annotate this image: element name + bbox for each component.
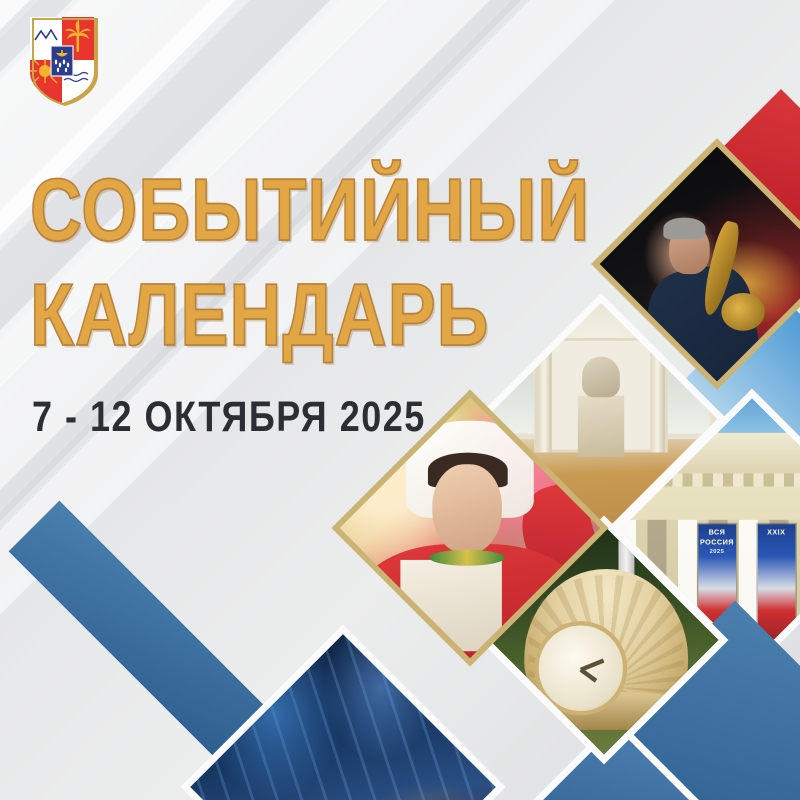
date-range-label: 7 - 12 ОКТЯБРЯ 2025 — [32, 392, 426, 442]
tile-blue-diagonal-band — [8, 500, 271, 763]
banner-a-title: ВСЯ — [698, 529, 736, 538]
poster-headline: СОБЫТИЙНЫЙ КАЛЕНДАРЬ — [30, 168, 590, 367]
title-line-2: КАЛЕНДАРЬ — [30, 273, 590, 359]
title-line-1: СОБЫТИЙНЫЙ — [30, 168, 590, 254]
event-calendar-poster: ВСЯ РОССИЯ 2025 XXIX — [0, 0, 800, 800]
coat-of-arms — [24, 14, 100, 106]
banner-a-subtitle: РОССИЯ — [698, 538, 736, 547]
banner-b-title: XXIX — [757, 529, 795, 538]
sochi-coat-of-arms-icon — [24, 14, 100, 106]
banner-a-year: 2025 — [698, 547, 736, 554]
